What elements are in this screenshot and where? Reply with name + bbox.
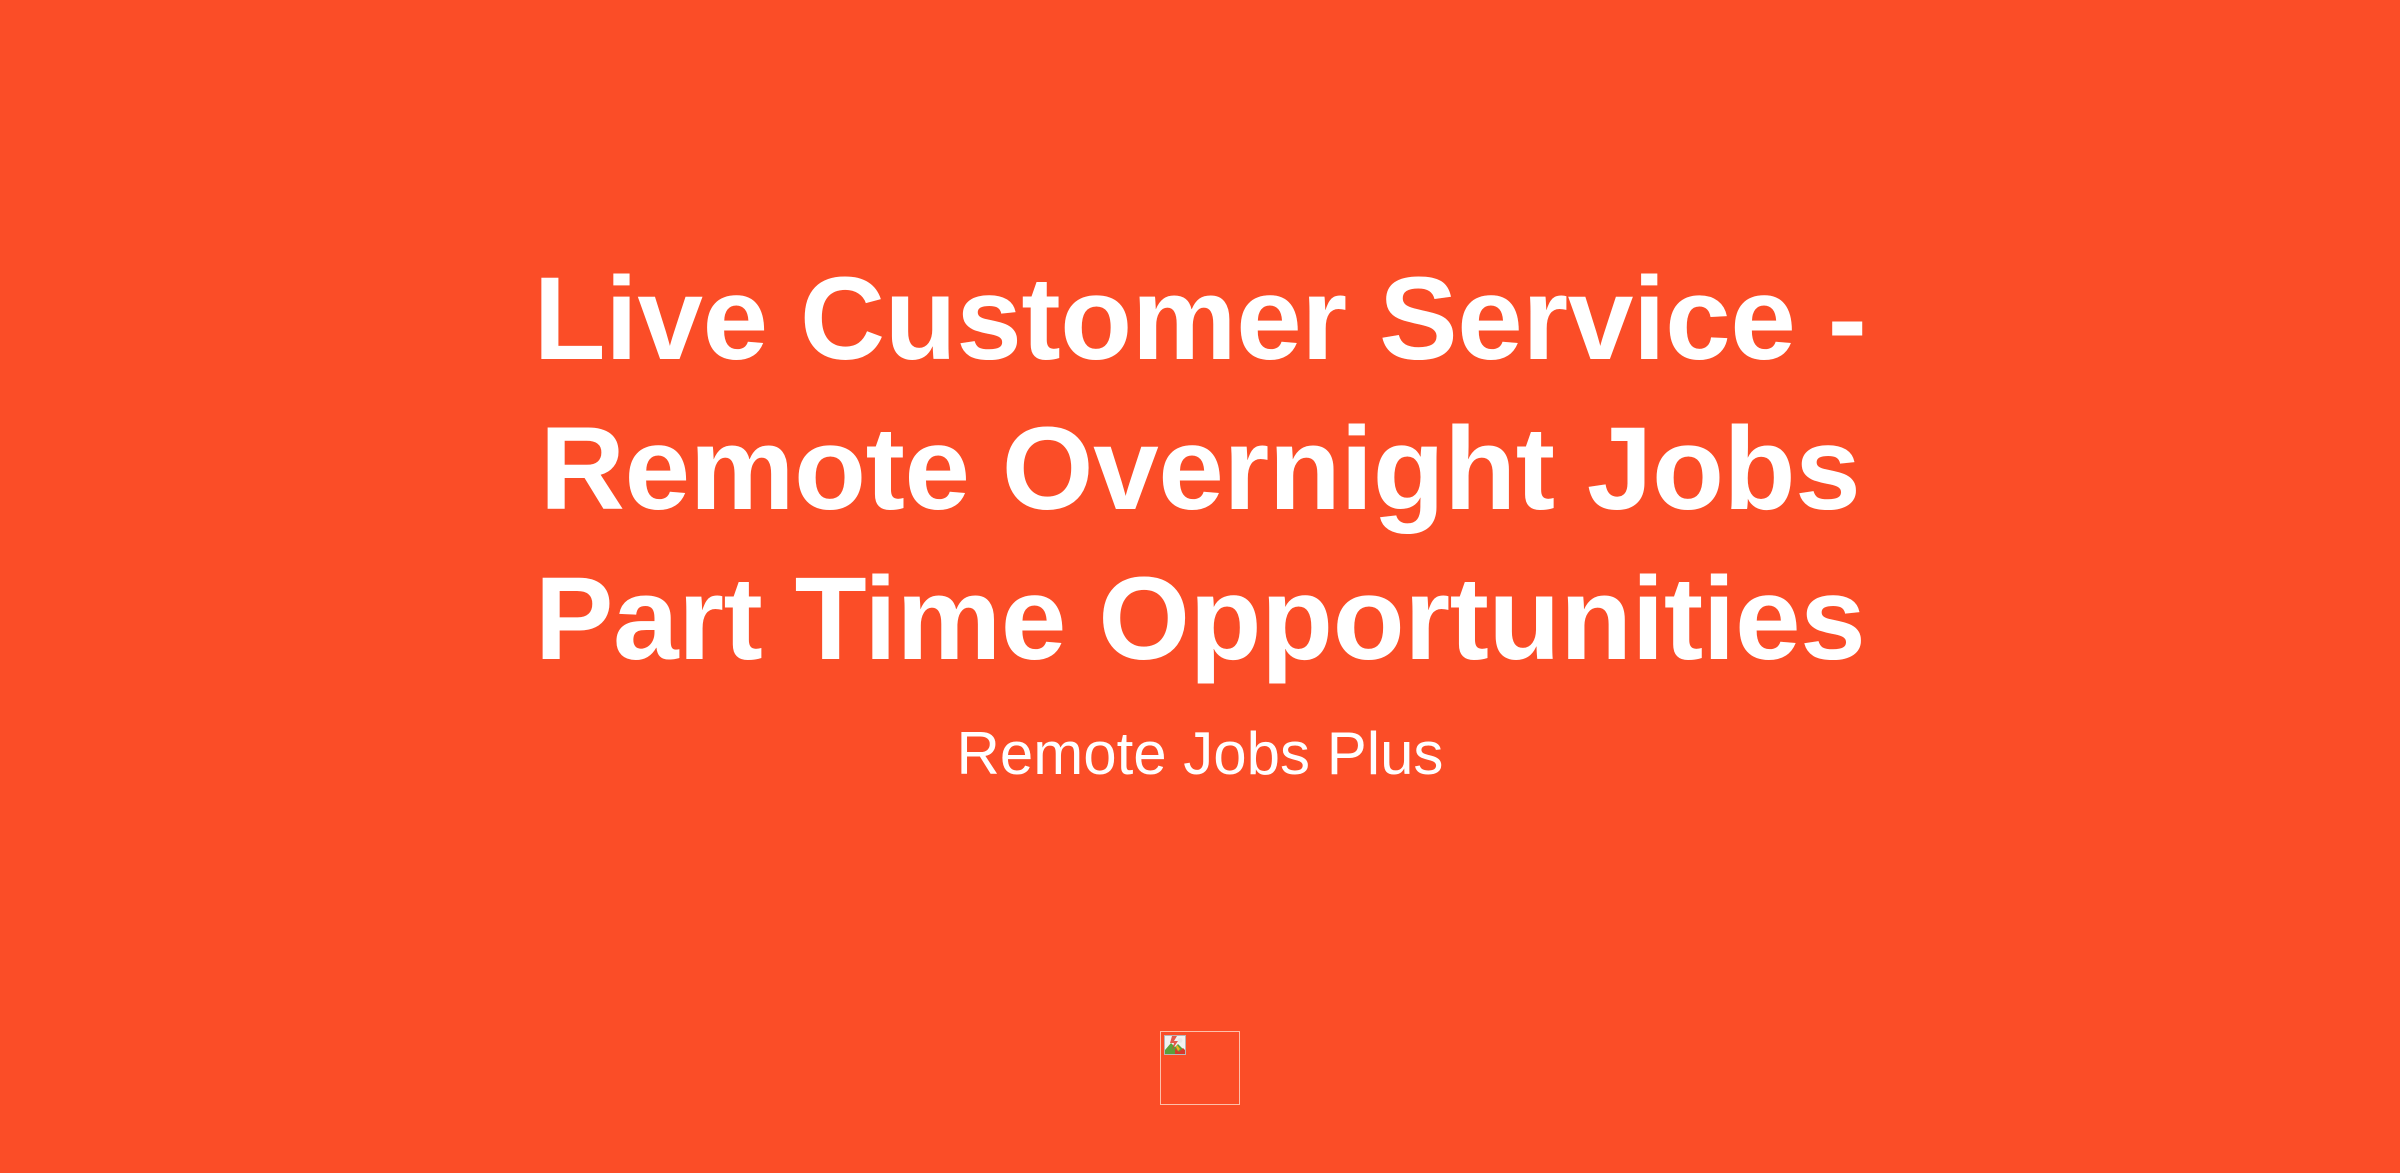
page-title: Live Customer Service - Remote Overnight… bbox=[420, 244, 1980, 694]
page-subtitle: Remote Jobs Plus bbox=[420, 716, 1980, 792]
broken-image-icon bbox=[1164, 1035, 1186, 1055]
broken-image-placeholder[interactable] bbox=[1160, 1031, 1240, 1105]
page-root: Live Customer Service - Remote Overnight… bbox=[0, 0, 2400, 1173]
hero-section: Live Customer Service - Remote Overnight… bbox=[420, 244, 1980, 792]
